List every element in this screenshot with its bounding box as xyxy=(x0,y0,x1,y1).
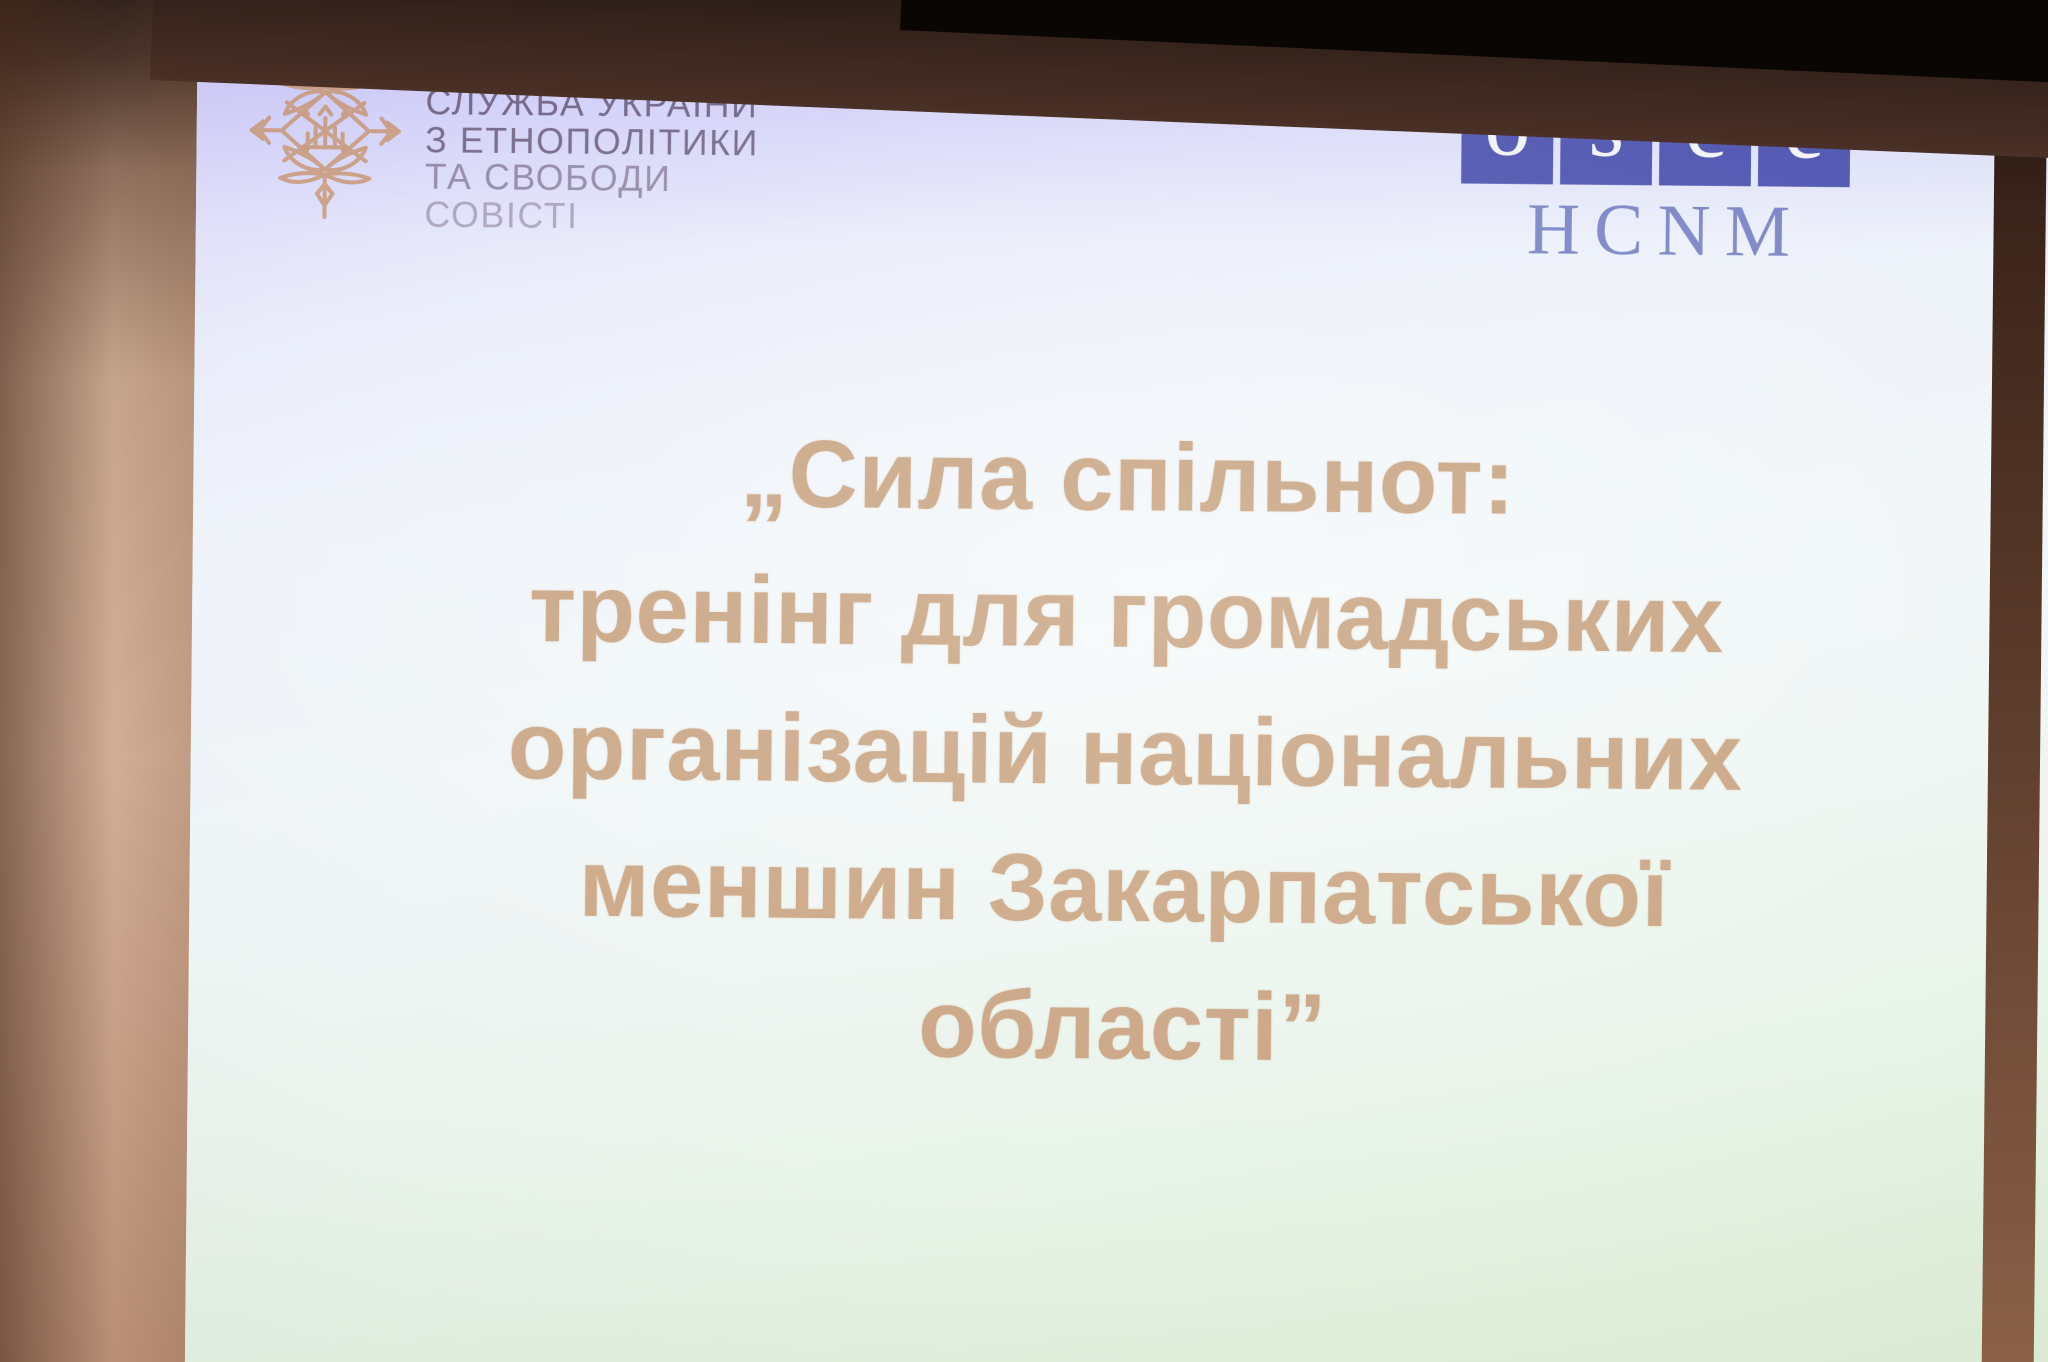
slide-title-line-5: області” xyxy=(188,948,2048,1103)
slide-title: „Сила спільнот: тренінг для громадських … xyxy=(188,400,2048,1103)
slide-title-line-2: тренінг для громадських xyxy=(192,537,2048,692)
slide-title-line-3: організацій національних xyxy=(190,674,2048,829)
slide-canvas: ДЕРЖАВНА СЛУЖБА УКРАЇНИ З ЕТНОПОЛІТИКИ Т… xyxy=(185,0,2048,1362)
projection-screen: ДЕРЖАВНА СЛУЖБА УКРАЇНИ З ЕТНОПОЛІТИКИ Т… xyxy=(185,0,2048,1362)
room-scene: ДЕРЖАВНА СЛУЖБА УКРАЇНИ З ЕТНОПОЛІТИКИ Т… xyxy=(0,0,2048,1362)
slide-title-line-4: меншин Закарпатської xyxy=(189,811,2048,966)
slide-title-line-1: „Сила спільнот: xyxy=(193,400,2048,555)
gov-logo-line-5: СОВІСТІ xyxy=(424,197,758,238)
gov-logo-line-3: З ЕТНОПОЛІТИКИ xyxy=(425,122,759,163)
osce-subtitle: HCNM xyxy=(1460,192,1858,269)
left-wall-shading xyxy=(0,0,206,1362)
gov-logo-line-4: ТА СВОБОДИ xyxy=(425,160,759,201)
